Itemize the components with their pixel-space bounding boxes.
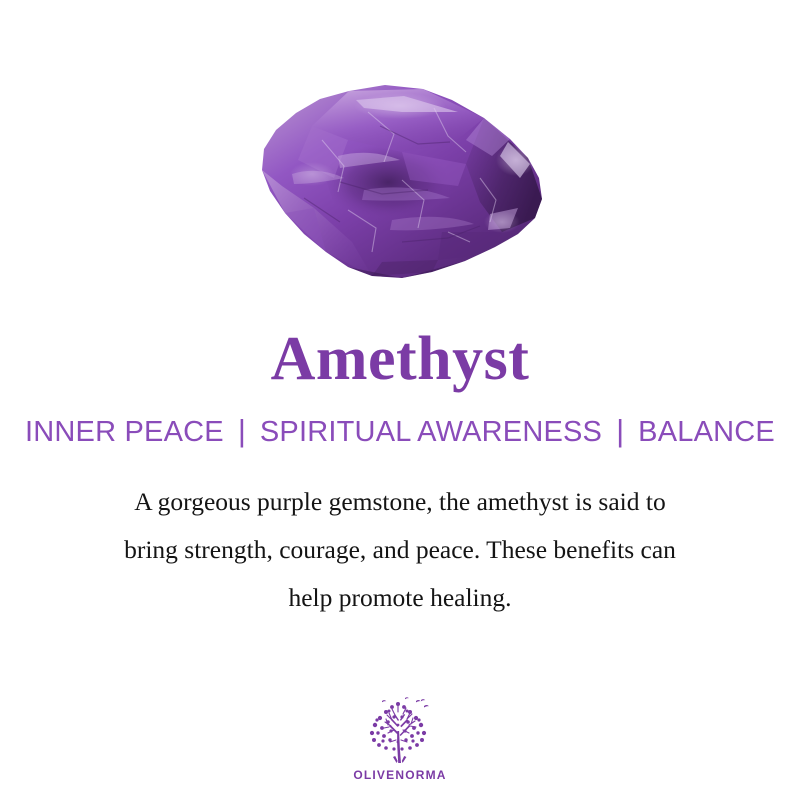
keyword-list: INNER PEACE | SPIRITUAL AWARENESS | BALA…	[0, 412, 800, 452]
description-line-1: A gorgeous purple gemstone, the amethyst…	[40, 478, 760, 526]
keyword-spiritual-awareness: SPIRITUAL AWARENESS	[260, 416, 602, 449]
keyword-separator-1: |	[224, 413, 260, 449]
keyword-inner-peace: INNER PEACE	[25, 416, 224, 449]
stone-body	[252, 82, 552, 294]
description-line-2: bring strength, courage, and peace. Thes…	[40, 526, 760, 574]
page-title: Amethyst	[271, 320, 530, 398]
gemstone-image-area	[0, 0, 800, 320]
keyword-balance: BALANCE	[638, 416, 775, 449]
description-text: A gorgeous purple gemstone, the amethyst…	[40, 478, 760, 622]
amethyst-crystal-illustration	[252, 82, 552, 294]
brand-wordmark: OLIVENORMA	[353, 768, 446, 782]
description-line-3: help promote healing.	[40, 574, 760, 622]
amethyst-stone-image	[252, 82, 552, 294]
tree-icon	[358, 695, 442, 765]
brand-logo: OLIVENORMA	[330, 695, 470, 782]
amethyst-info-card: Amethyst INNER PEACE | SPIRITUAL AWARENE…	[0, 0, 800, 800]
keyword-separator-2: |	[602, 413, 638, 449]
